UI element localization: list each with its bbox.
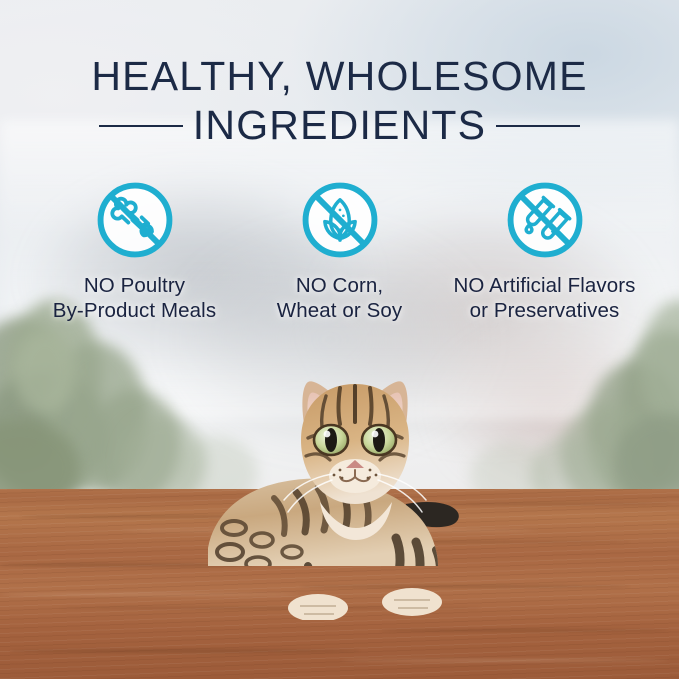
badge-label: NO Corn, Wheat or Soy [277,273,402,323]
cat-body [208,479,442,620]
feature-badges: NO Poultry By-Product Meals [0,178,679,323]
headline: HEALTHY, WHOLESOME INGREDIENTS [0,56,679,147]
headline-rule-right [496,125,580,127]
badge-label: NO Poultry By-Product Meals [53,273,216,323]
badge-no-corn-wheat-or-soy: NO Corn, Wheat or Soy [237,178,442,323]
badge-label-line-1: NO Corn, [277,273,402,298]
badge-label-line-1: NO Artificial Flavors [453,273,635,298]
product-feature-banner: HEALTHY, WHOLESOME INGREDIENTS [0,0,679,679]
badge-label-line-1: NO Poultry [53,273,216,298]
headline-line-2: INGREDIENTS [193,105,486,147]
headline-rule-left [99,125,183,127]
no-test-tube-icon [503,178,587,262]
badge-no-artificial-flavors-or-preservatives: NO Artificial Flavors or Preservatives [442,178,647,323]
badge-label-line-2: or Preservatives [453,298,635,323]
badge-label-line-2: By-Product Meals [53,298,216,323]
headline-line-2-row: INGREDIENTS [0,105,679,147]
no-bone-icon [93,178,177,262]
badge-no-poultry-by-product-meals: NO Poultry By-Product Meals [32,178,237,323]
no-corn-icon [298,178,382,262]
badge-label-line-2: Wheat or Soy [277,298,402,323]
headline-line-1: HEALTHY, WHOLESOME [0,56,679,98]
badge-label: NO Artificial Flavors or Preservatives [453,273,635,323]
bengal-cat-photo [200,352,510,620]
